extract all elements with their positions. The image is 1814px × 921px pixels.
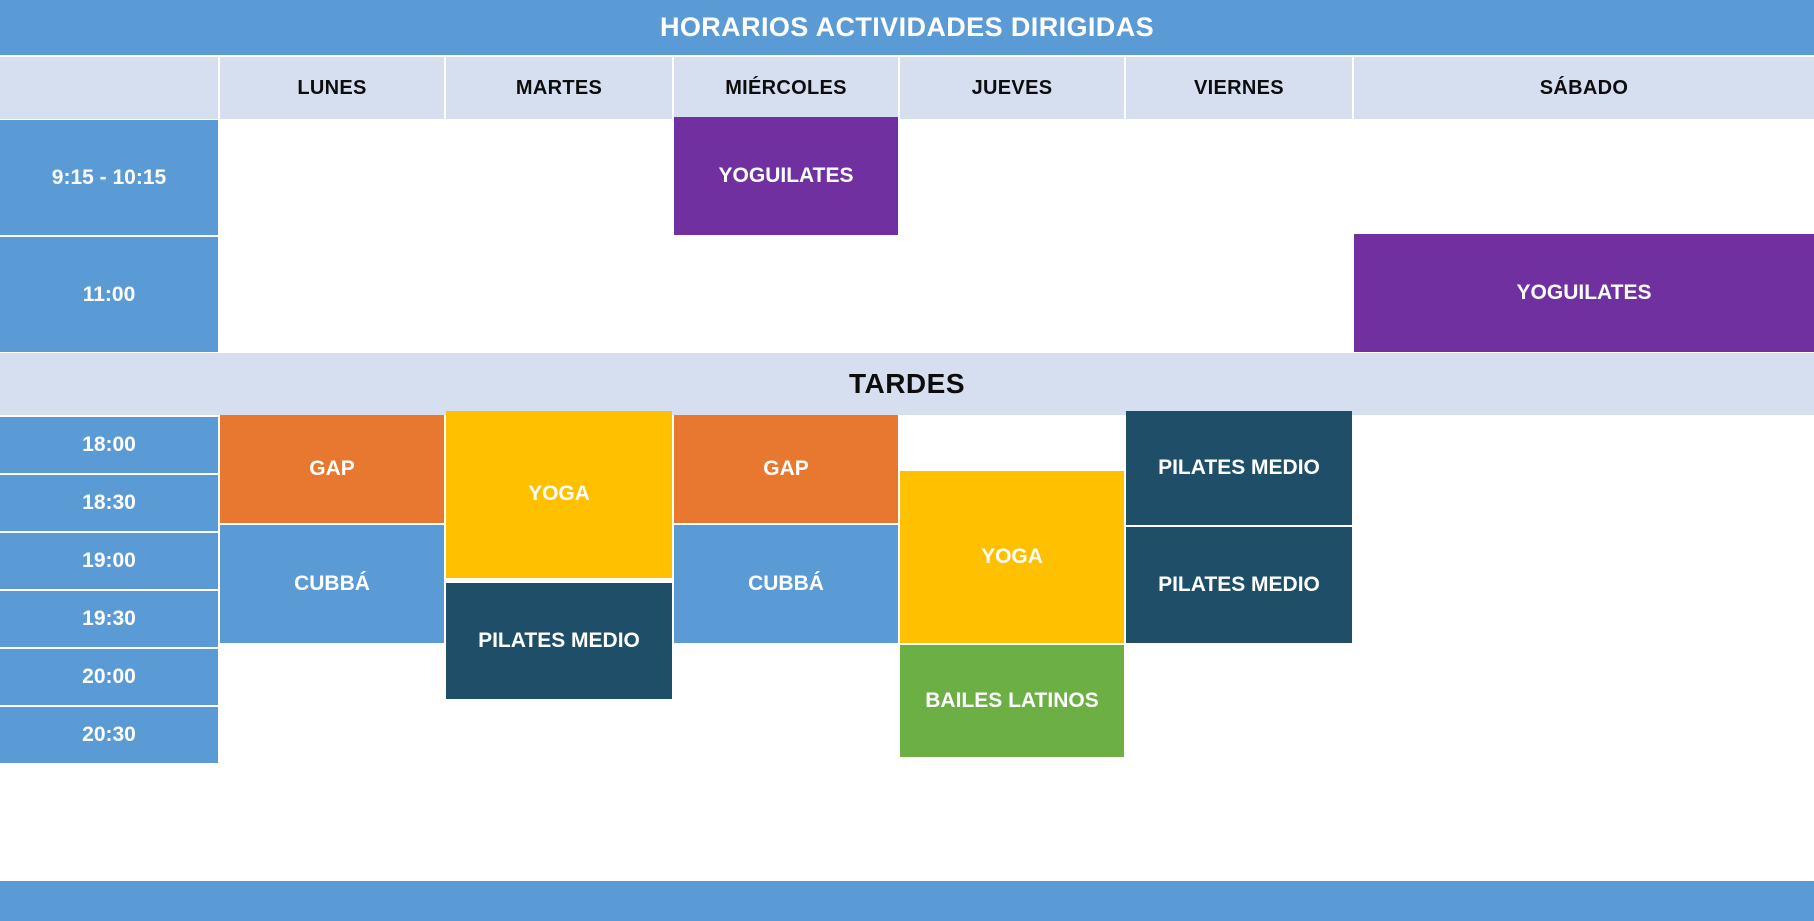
activity-label: GAP [309,457,355,481]
activity-label: YOGUILATES [719,164,854,188]
activity-block-cubba-miercoles[interactable]: CUBBÁ [674,525,898,643]
activity-block-pilates-medio-viernes-2[interactable]: PILATES MEDIO [1126,527,1352,643]
activity-block-yoguilates-sabado[interactable]: YOGUILATES [1354,234,1814,352]
page-title: HORARIOS ACTIVIDADES DIRIGIDAS [660,12,1154,43]
corner-cell [0,57,218,119]
activity-label: PILATES MEDIO [1158,573,1320,597]
activity-label: YOGUILATES [1517,281,1652,305]
activity-label: PILATES MEDIO [478,629,640,653]
time-cell-1930: 19:30 [0,591,218,647]
activity-label: CUBBÁ [294,572,370,596]
time-cell-2000: 20:00 [0,649,218,705]
day-header-viernes: VIERNES [1126,57,1352,119]
day-header-row: LUNES MARTES MIÉRCOLES JUEVES VIERNES SÁ… [0,57,1814,119]
time-cell-1100: 11:00 [0,237,218,352]
activity-block-yoga-jueves[interactable]: YOGA [900,471,1124,643]
day-header-jueves: JUEVES [900,57,1124,119]
activity-label: PILATES MEDIO [1158,456,1320,480]
activity-block-pilates-medio-martes[interactable]: PILATES MEDIO [446,583,672,699]
time-cell-0915-1015: 9:15 - 10:15 [0,120,218,235]
activity-block-yoguilates-miercoles[interactable]: YOGUILATES [674,117,898,235]
time-cell-1800: 18:00 [0,417,218,473]
page-title-bar: HORARIOS ACTIVIDADES DIRIGIDAS [0,0,1814,55]
activity-block-gap-miercoles[interactable]: GAP [674,415,898,523]
activity-block-gap-lunes[interactable]: GAP [220,415,444,523]
day-header-martes: MARTES [446,57,672,119]
activity-label: CUBBÁ [748,572,824,596]
footer-bar [0,881,1814,921]
schedule-sheet: HORARIOS ACTIVIDADES DIRIGIDAS LUNES MAR… [0,0,1814,921]
day-header-lunes: LUNES [220,57,444,119]
time-cell-1830: 18:30 [0,475,218,531]
activity-label: BAILES LATINOS [925,689,1098,713]
day-header-miercoles: MIÉRCOLES [674,57,898,119]
activity-label: YOGA [981,545,1043,569]
activity-block-cubba-lunes[interactable]: CUBBÁ [220,525,444,643]
activity-block-pilates-medio-viernes-1[interactable]: PILATES MEDIO [1126,411,1352,525]
activity-block-yoga-martes[interactable]: YOGA [446,411,672,578]
section-divider-tardes: TARDES [0,353,1814,415]
activity-block-bailes-latinos-jueves[interactable]: BAILES LATINOS [900,645,1124,757]
day-header-sabado: SÁBADO [1354,57,1814,119]
time-cell-2030: 20:30 [0,707,218,763]
activity-label: GAP [763,457,809,481]
activity-label: YOGA [528,482,590,506]
time-cell-1900: 19:00 [0,533,218,589]
